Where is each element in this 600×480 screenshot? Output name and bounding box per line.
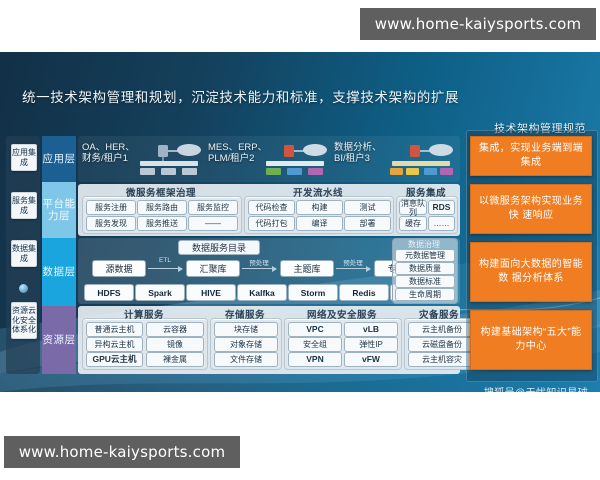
resource-cell-bare-metal[interactable]: 裸金属	[146, 352, 204, 367]
platform-group-title-service-integration: 服务集成	[396, 185, 456, 199]
resource-cell-block-storage[interactable]: 块存储	[214, 322, 278, 337]
watermark-top: www.home-kaiysports.com	[360, 8, 596, 40]
platform-cell-compile[interactable]: 编译	[296, 216, 343, 231]
resource-layer-band: 计算服务 普通云主机 异构云主机 GPU云主机 云容器 镜像 裸金属 存储服务 …	[78, 306, 460, 374]
platform-cell-rds[interactable]: RDS	[428, 200, 455, 215]
governance-standard[interactable]: 数据标准	[395, 275, 455, 288]
resource-cell-elastic-ip[interactable]: 弹性IP	[344, 337, 398, 352]
data-service-catalog[interactable]: 数据服务目录	[178, 240, 260, 255]
tenant-group-3[interactable]: 数据分析、 BI/租户3	[334, 138, 458, 180]
tenant-group-1[interactable]: OA、HER、 财务/租户1	[82, 138, 206, 180]
layer-data[interactable]: 数据层	[42, 238, 76, 306]
resource-group-title-storage: 存储服务	[210, 307, 280, 321]
page-title: 统一技术架构管理和规划，沉淀技术能力和标准，支撑技术架构的扩展	[22, 86, 459, 106]
tenant-group-2[interactable]: MES、ERP、 PLM/租户2	[208, 138, 332, 180]
data-node-aggregate[interactable]: 汇聚库	[186, 260, 240, 277]
screenshot-canvas: www.home-kaiysports.com 统一技术架构管理和规划，沉淀技术…	[0, 0, 600, 480]
data-flow-arrow-3	[336, 268, 370, 269]
network-topology-icon	[258, 141, 332, 177]
resource-cell-object-storage[interactable]: 对象存储	[214, 337, 278, 352]
resource-cell-image[interactable]: 镜像	[146, 337, 204, 352]
platform-cell-test[interactable]: 测试	[344, 200, 391, 215]
platform-group-title-pipeline: 开发流水线	[244, 185, 392, 199]
tenant-label-1: OA、HER、 财务/租户1	[82, 142, 135, 164]
network-topology-icon	[132, 141, 206, 177]
data-flow-label-2: 预处理	[242, 257, 276, 267]
integration-item-data[interactable]: 数据集成	[11, 240, 37, 267]
platform-cell-cache[interactable]: 缓存	[399, 216, 427, 231]
watermark-bottom: www.home-kaiysports.com	[4, 436, 240, 468]
data-tech-kafka[interactable]: Kalfka	[237, 284, 287, 301]
layer-column: 应用层 平台能力层 数据层 资源层	[42, 136, 76, 374]
resource-cell-heterogeneous-vm[interactable]: 异构云主机	[86, 337, 143, 352]
platform-group-title-microservice: 微服务框架治理	[82, 185, 240, 199]
layer-application[interactable]: 应用层	[42, 136, 76, 182]
data-tech-hive[interactable]: HIVE	[186, 284, 236, 301]
platform-cell-service-route[interactable]: 服务路由	[137, 200, 187, 215]
platform-cell-service-push[interactable]: 服务推送	[137, 216, 187, 231]
resource-cell-container[interactable]: 云容器	[146, 322, 204, 337]
globe-icon	[19, 284, 28, 293]
tenant-label-3: 数据分析、 BI/租户3	[334, 142, 382, 164]
resource-group-title-network-security: 网络及安全服务	[284, 307, 400, 321]
resource-cell-file-storage[interactable]: 文件存储	[214, 352, 278, 367]
platform-cell-deploy[interactable]: 部署	[344, 216, 391, 231]
governance-quality[interactable]: 数据质量	[395, 262, 455, 275]
resource-cell-gpu-vm[interactable]: GPU云主机	[86, 352, 143, 367]
data-layer-band: 数据服务目录 源数据 ETL 汇聚库 预处理 主题库 预处理 专题库 HDFS …	[78, 238, 460, 304]
resource-cell-security-group[interactable]: 安全组	[288, 337, 342, 352]
data-flow-label-3: 预处理	[336, 257, 370, 267]
application-layer-band: OA、HER、 财务/租户1 MES、ERP、 PLM/租户2	[78, 136, 460, 182]
value-panel-bigdata[interactable]: 构建面向大数据的智能数 据分析体系	[470, 242, 592, 302]
data-tech-hdfs[interactable]: HDFS	[84, 284, 134, 301]
platform-cell-code-check[interactable]: 代码检查	[248, 200, 295, 215]
layer-resource[interactable]: 资源层	[42, 306, 76, 374]
integration-item-application[interactable]: 应用集成	[11, 144, 37, 171]
resource-cell-vpc[interactable]: VPC	[288, 322, 342, 337]
source-credit: 搜狐号@无忧知识星球	[484, 384, 588, 392]
layer-platform[interactable]: 平台能力层	[42, 182, 76, 238]
value-panel-infrastructure[interactable]: 构建基础架构“五大”能 力中心	[470, 310, 592, 370]
platform-cell-service-register[interactable]: 服务注册	[86, 200, 136, 215]
data-node-source[interactable]: 源数据	[92, 260, 146, 277]
architecture-slide: 统一技术架构管理和规划，沉淀技术能力和标准，支撑技术架构的扩展 技术架构管理规范…	[0, 52, 600, 392]
platform-cell-build[interactable]: 构建	[296, 200, 343, 215]
platform-cell-service-more[interactable]: ——	[188, 216, 238, 231]
data-tech-redis[interactable]: Redis	[339, 284, 389, 301]
platform-cell-code-package[interactable]: 代码打包	[248, 216, 295, 231]
governance-lifecycle[interactable]: 生命周期	[395, 288, 455, 301]
data-tech-storm[interactable]: Storm	[288, 284, 338, 301]
platform-cell-message-queue[interactable]: 消息队列	[399, 200, 427, 215]
integration-item-service[interactable]: 服务集成	[11, 192, 37, 219]
resource-cell-standard-vm[interactable]: 普通云主机	[86, 322, 143, 337]
resource-cell-vlb[interactable]: vLB	[344, 322, 398, 337]
integration-item-resource[interactable]: 资源云化安全体系化	[11, 302, 37, 339]
data-flow-label-1: ETL	[148, 257, 182, 264]
data-node-subject[interactable]: 主题库	[280, 260, 334, 277]
value-panel-integration[interactable]: 集成，实现业务端到端集成	[470, 136, 592, 176]
data-flow-arrow-2	[242, 268, 276, 269]
resource-cell-vfw[interactable]: vFW	[344, 352, 398, 367]
resource-group-title-compute: 计算服务	[82, 307, 206, 321]
resource-group-title-disaster-recovery: 灾备服务	[404, 307, 474, 321]
platform-cell-more[interactable]: ……	[428, 216, 455, 231]
data-tech-spark[interactable]: Spark	[135, 284, 185, 301]
resource-cell-vpn[interactable]: VPN	[288, 352, 342, 367]
governance-metadata[interactable]: 元数据管理	[395, 249, 455, 262]
platform-cell-service-discovery[interactable]: 服务发现	[86, 216, 136, 231]
network-topology-icon	[384, 141, 458, 177]
platform-cell-service-monitor[interactable]: 服务监控	[188, 200, 238, 215]
platform-layer-band: 微服务框架治理 服务注册 服务路由 服务监控 服务发现 服务推送 —— 开发流水…	[78, 184, 460, 236]
value-panel-microservice[interactable]: 以微服务架构实现业务快 速响应	[470, 184, 592, 234]
data-flow-arrow-1	[148, 268, 182, 269]
